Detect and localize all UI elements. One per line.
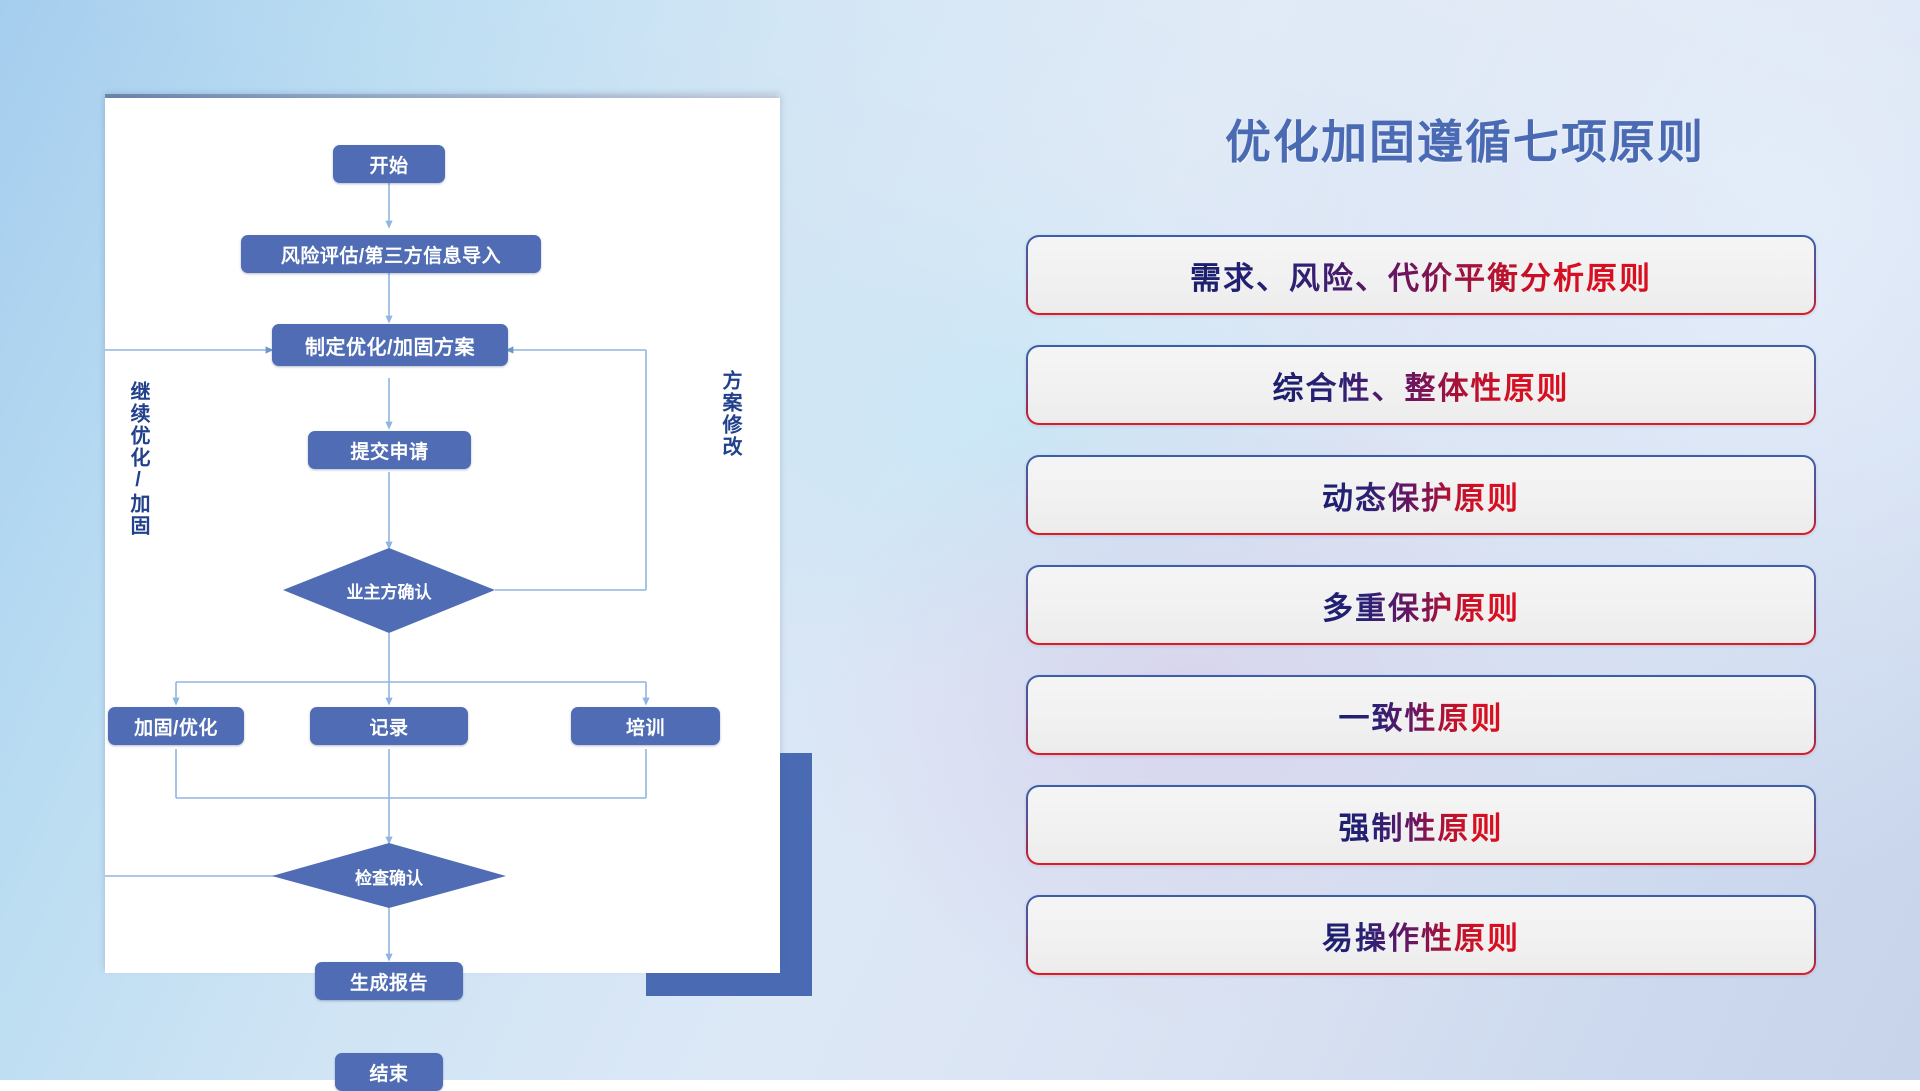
panel-title: 优化加固遵循七项原则 — [1010, 106, 1920, 172]
principles-panel: 优化加固遵循七项原则 需求、风险、代价平衡分析原则 综合性、整体性原则 动态保护… — [1010, 0, 1920, 1080]
principle-item-2[interactable]: 综合性、整体性原则 — [1026, 345, 1816, 425]
principle-item-6-label: 强制性原则 — [1339, 803, 1504, 848]
node-make-plan-label: 制定优化/加固方案 — [305, 331, 475, 360]
flowchart-connectors — [105, 98, 780, 973]
principle-item-7-label: 易操作性原则 — [1322, 913, 1520, 958]
flowchart: 开始 风险评估/第三方信息导入 制定优化/加固方案 提交申请 业主方确认 加固/… — [105, 98, 780, 973]
node-start-label: 开始 — [369, 151, 408, 178]
node-end[interactable]: 结束 — [335, 1053, 443, 1091]
node-generate-report[interactable]: 生成报告 — [315, 962, 463, 1000]
node-risk-assessment-label: 风险评估/第三方信息导入 — [281, 241, 501, 268]
principle-item-3-label: 动态保护原则 — [1322, 473, 1520, 518]
node-record-label: 记录 — [369, 713, 408, 740]
node-generate-report-label: 生成报告 — [350, 968, 428, 995]
principle-item-2-label: 综合性、整体性原则 — [1273, 363, 1570, 408]
node-owner-confirm-label: 业主方确认 — [347, 578, 432, 603]
edge-label-left-loop: 继续优化/加固 — [127, 381, 148, 537]
node-reinforce-optimize[interactable]: 加固/优化 — [108, 707, 244, 745]
node-start[interactable]: 开始 — [333, 145, 445, 183]
node-training[interactable]: 培训 — [571, 707, 720, 745]
node-record[interactable]: 记录 — [310, 707, 468, 745]
principle-item-6[interactable]: 强制性原则 — [1026, 785, 1816, 865]
node-check-confirm[interactable]: 检查确认 — [289, 862, 489, 890]
principle-item-4-label: 多重保护原则 — [1322, 583, 1520, 628]
edge-label-right-loop: 方案修改 — [719, 370, 740, 458]
node-owner-confirm[interactable]: 业主方确认 — [289, 576, 489, 604]
principle-item-3[interactable]: 动态保护原则 — [1026, 455, 1816, 535]
principle-item-5-label: 一致性原则 — [1339, 693, 1504, 738]
principle-item-4[interactable]: 多重保护原则 — [1026, 565, 1816, 645]
principle-item-1-label: 需求、风险、代价平衡分析原则 — [1190, 253, 1652, 298]
node-make-plan[interactable]: 制定优化/加固方案 — [272, 324, 508, 366]
principle-item-5[interactable]: 一致性原则 — [1026, 675, 1816, 755]
principle-item-7[interactable]: 易操作性原则 — [1026, 895, 1816, 975]
node-reinforce-optimize-label: 加固/优化 — [134, 713, 218, 740]
node-submit-application[interactable]: 提交申请 — [308, 431, 471, 469]
principle-item-1[interactable]: 需求、风险、代价平衡分析原则 — [1026, 235, 1816, 315]
node-check-confirm-label: 检查确认 — [355, 864, 423, 889]
node-risk-assessment[interactable]: 风险评估/第三方信息导入 — [241, 235, 541, 273]
node-training-label: 培训 — [626, 713, 665, 740]
node-submit-application-label: 提交申请 — [350, 437, 428, 464]
node-end-label: 结束 — [369, 1059, 408, 1086]
